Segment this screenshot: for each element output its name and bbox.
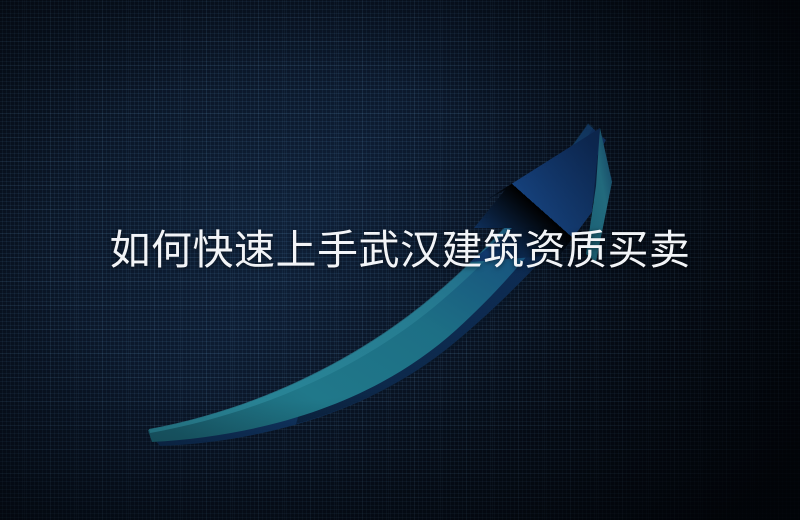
banner-image: 如何快速上手武汉建筑资质买卖 <box>0 0 800 520</box>
headline-text: 如何快速上手武汉建筑资质买卖 <box>0 222 800 278</box>
